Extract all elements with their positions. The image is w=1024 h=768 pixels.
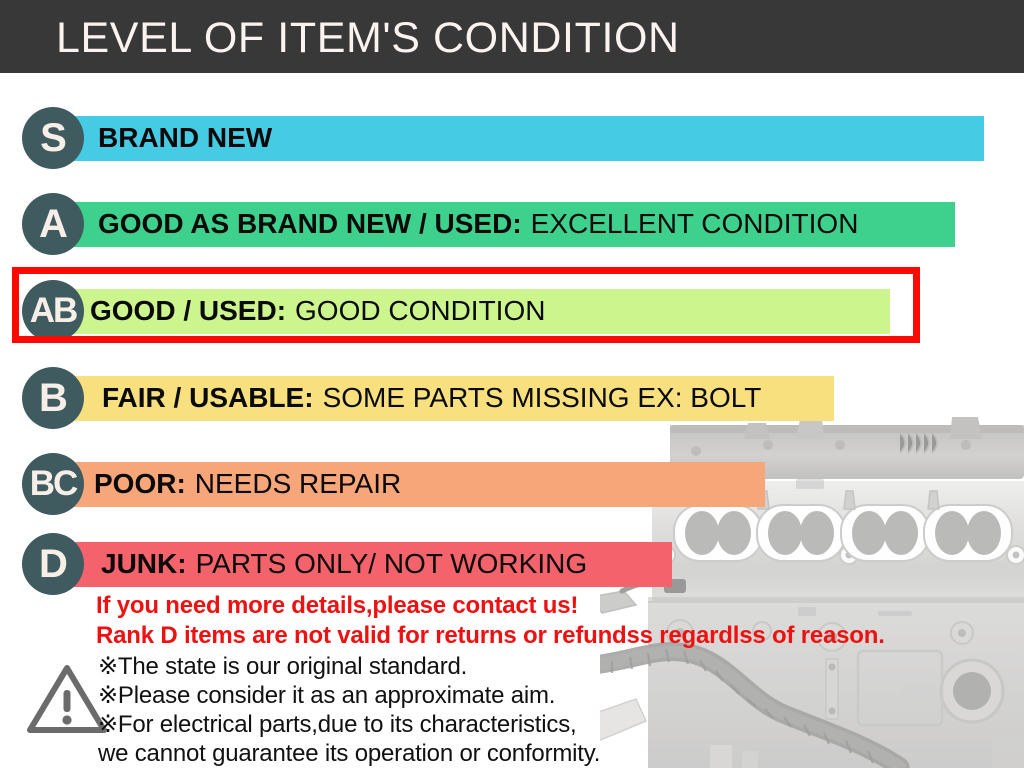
rank-regular-text-ab: GOOD CONDITION xyxy=(295,295,545,327)
warning-triangle-icon xyxy=(26,662,108,734)
contact-us-note: If you need more details,please contact … xyxy=(96,592,578,620)
note-line-2: ※Please consider it as an approximate ai… xyxy=(98,681,600,710)
rank-text-a: GOOD AS BRAND NEW / USED: EXCELLENT COND… xyxy=(98,193,858,255)
rank-text-s: BRAND NEW xyxy=(98,107,272,169)
note-line-1: ※The state is our original standard. xyxy=(98,652,600,681)
rank-grade-label-bc: BC xyxy=(30,464,77,504)
rank-bold-text-s: BRAND NEW xyxy=(98,122,272,154)
rank-grade-label-b: B xyxy=(39,376,67,421)
rank-text-d: JUNK: PARTS ONLY/ NOT WORKING xyxy=(101,533,587,595)
disclaimer-notes: ※The state is our original standard. ※Pl… xyxy=(98,652,600,768)
rank-grade-label-ab: AB xyxy=(30,291,77,331)
rank-text-ab: GOOD / USED: GOOD CONDITION xyxy=(90,280,545,342)
condition-level-infographic: LEVEL OF ITEM'S CONDITION S BRAND NEW A … xyxy=(0,0,1024,768)
rank-bold-text-d: JUNK: xyxy=(101,548,187,580)
rank-badge-d: D xyxy=(22,533,84,595)
note-line-4: we cannot guarantee its operation or con… xyxy=(98,739,600,768)
rank-text-bc: POOR: NEEDS REPAIR xyxy=(94,453,401,515)
rank-grade-label-s: S xyxy=(40,116,66,161)
rank-grade-label-a: A xyxy=(39,202,67,247)
rank-d-returns-note: Rank D items are not valid for returns o… xyxy=(96,622,885,650)
rank-badge-ab: AB xyxy=(22,280,84,342)
rank-regular-text-a: EXCELLENT CONDITION xyxy=(531,208,859,240)
rank-badge-b: B xyxy=(22,367,84,429)
rank-text-b: FAIR / USABLE: SOME PARTS MISSING EX: BO… xyxy=(102,367,761,429)
rank-bold-text-b: FAIR / USABLE: xyxy=(102,382,314,414)
rank-bold-text-bc: POOR: xyxy=(94,468,186,500)
rank-regular-text-d: PARTS ONLY/ NOT WORKING xyxy=(196,548,588,580)
rank-regular-text-bc: NEEDS REPAIR xyxy=(195,468,401,500)
rank-badge-a: A xyxy=(22,193,84,255)
page-title: LEVEL OF ITEM'S CONDITION xyxy=(56,14,680,63)
rank-badge-s: S xyxy=(22,107,84,169)
rank-grade-label-d: D xyxy=(39,542,67,587)
rank-bold-text-ab: GOOD / USED: xyxy=(90,295,286,327)
note-line-3: ※For electrical parts,due to its charact… xyxy=(98,710,600,739)
rank-badge-bc: BC xyxy=(22,453,84,515)
rank-bold-text-a: GOOD AS BRAND NEW / USED: xyxy=(98,208,522,240)
rank-regular-text-b: SOME PARTS MISSING EX: BOLT xyxy=(323,382,762,414)
